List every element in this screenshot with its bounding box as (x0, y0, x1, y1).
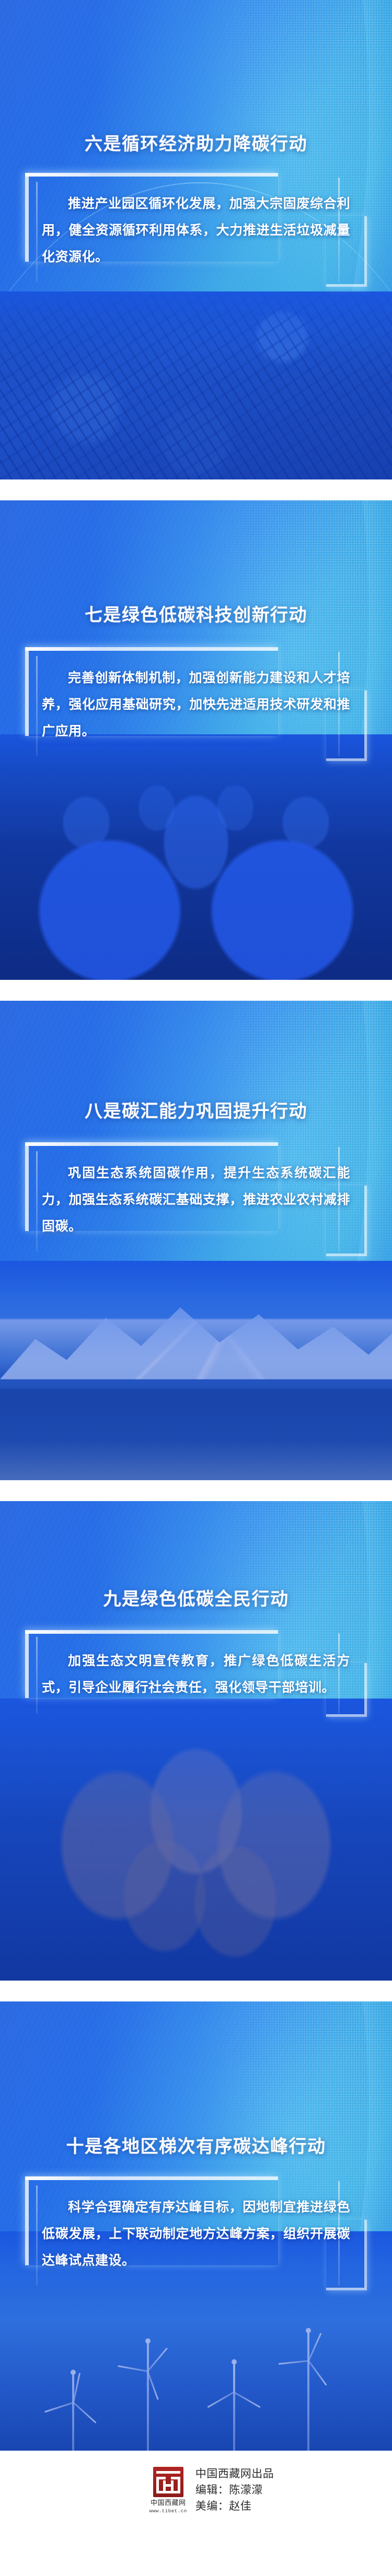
credits: 中国西藏网出品 编辑：陈濛濛 美编：赵佳 (195, 2468, 274, 2513)
panel-body-text: 巩固生态系统固碳作用，提升生态系统碳汇能力，加强生态系统碳汇基础支撑，推进农业农… (42, 1160, 350, 1240)
page-title: 九是绿色低碳全民行动 (0, 1501, 392, 1610)
frame-accent-line-left (36, 2185, 38, 2286)
text-frame: 巩固生态系统固碳作用，提升生态系统碳汇能力，加强生态系统碳汇基础支撑，推进农业农… (25, 1142, 367, 1256)
site-logo: 中国西藏网 www.tibet.cn (149, 2467, 187, 2514)
panel-9: 九是绿色低碳全民行动 加强生态文明宣传教育，推广绿色低碳生活方式，引导企业履行社… (0, 1501, 392, 1981)
page-title: 六是循环经济助力降碳行动 (0, 0, 392, 155)
panel-6: 六是循环经济助力降碳行动 推进产业园区循环化发展，加强大宗固废综合利用，健全资源… (0, 0, 392, 479)
panel-7: 七是绿色低碳科技创新行动 完善创新体制机制，加强创新能力建设和人才培养，强化应用… (0, 500, 392, 980)
panel-body-text: 加强生态文明宣传教育，推广绿色低碳生活方式，引导企业履行社会责任，强化领导干部培… (42, 1648, 350, 1702)
panel-content: 十是各地区梯次有序碳达峰行动 科学合理确定有序达峰目标，因地制宜推进绿色低碳发展… (0, 2001, 392, 2290)
text-frame: 推进产业园区循环化发展，加强大宗固废综合利用，健全资源循环利用体系，大力推进生活… (25, 173, 367, 287)
panel-body-text: 推进产业园区循环化发展，加强大宗固废综合利用，健全资源循环利用体系，大力推进生活… (42, 191, 350, 271)
text-frame: 加强生态文明宣传教育，推广绿色低碳生活方式，引导企业履行社会责任，强化领导干部培… (25, 1630, 367, 1717)
infographic-poster: 六是循环经济助力降碳行动 推进产业园区循环化发展，加强大宗固废综合利用，健全资源… (0, 0, 392, 2530)
designer-credit: 美编：赵佳 (195, 2500, 274, 2513)
panel-content: 九是绿色低碳全民行动 加强生态文明宣传教育，推广绿色低碳生活方式，引导企业履行社… (0, 1501, 392, 1717)
editor-credit: 编辑：陈濛濛 (195, 2484, 274, 2497)
panel-content: 六是循环经济助力降碳行动 推进产业园区循环化发展，加强大宗固废综合利用，健全资源… (0, 0, 392, 287)
panel-body-text: 完善创新体制机制，加强创新能力建设和人才培养，强化应用基础研究，加快先进适用技术… (42, 665, 350, 745)
panel-8: 八是碳汇能力巩固提升行动 巩固生态系统固碳作用，提升生态系统碳汇能力，加强生态系… (0, 1001, 392, 1480)
footer: 中国西藏网 www.tibet.cn 中国西藏网出品 编辑：陈濛濛 美编：赵佳 (0, 2451, 392, 2530)
panel-10: 十是各地区梯次有序碳达峰行动 科学合理确定有序达峰目标，因地制宜推进绿色低碳发展… (0, 2001, 392, 2451)
panel-content: 七是绿色低碳科技创新行动 完善创新体制机制，加强创新能力建设和人才培养，强化应用… (0, 500, 392, 761)
page-title: 八是碳汇能力巩固提升行动 (0, 1001, 392, 1122)
frame-accent-line-left (36, 182, 38, 282)
page-title: 十是各地区梯次有序碳达峰行动 (0, 2001, 392, 2158)
panel-content: 八是碳汇能力巩固提升行动 巩固生态系统固碳作用，提升生态系统碳汇能力，加强生态系… (0, 1001, 392, 1256)
text-frame: 科学合理确定有序达峰目标，因地制宜推进绿色低碳发展，上下联动制定地方达峰方案，组… (25, 2176, 367, 2290)
frame-accent-line-left (36, 1637, 38, 1714)
produced-by: 中国西藏网出品 (195, 2468, 274, 2480)
tibet-seal-icon (153, 2467, 183, 2497)
logo-url: www.tibet.cn (149, 2509, 187, 2514)
logo-name: 中国西藏网 (151, 2499, 186, 2507)
panel-body-text: 科学合理确定有序达峰目标，因地制宜推进绿色低碳发展，上下联动制定地方达峰方案，组… (42, 2194, 350, 2275)
frame-accent-line-left (36, 656, 38, 756)
text-frame: 完善创新体制机制，加强创新能力建设和人才培养，强化应用基础研究，加快先进适用技术… (25, 647, 367, 761)
page-title: 七是绿色低碳科技创新行动 (0, 500, 392, 626)
frame-accent-line-left (36, 1151, 38, 1251)
